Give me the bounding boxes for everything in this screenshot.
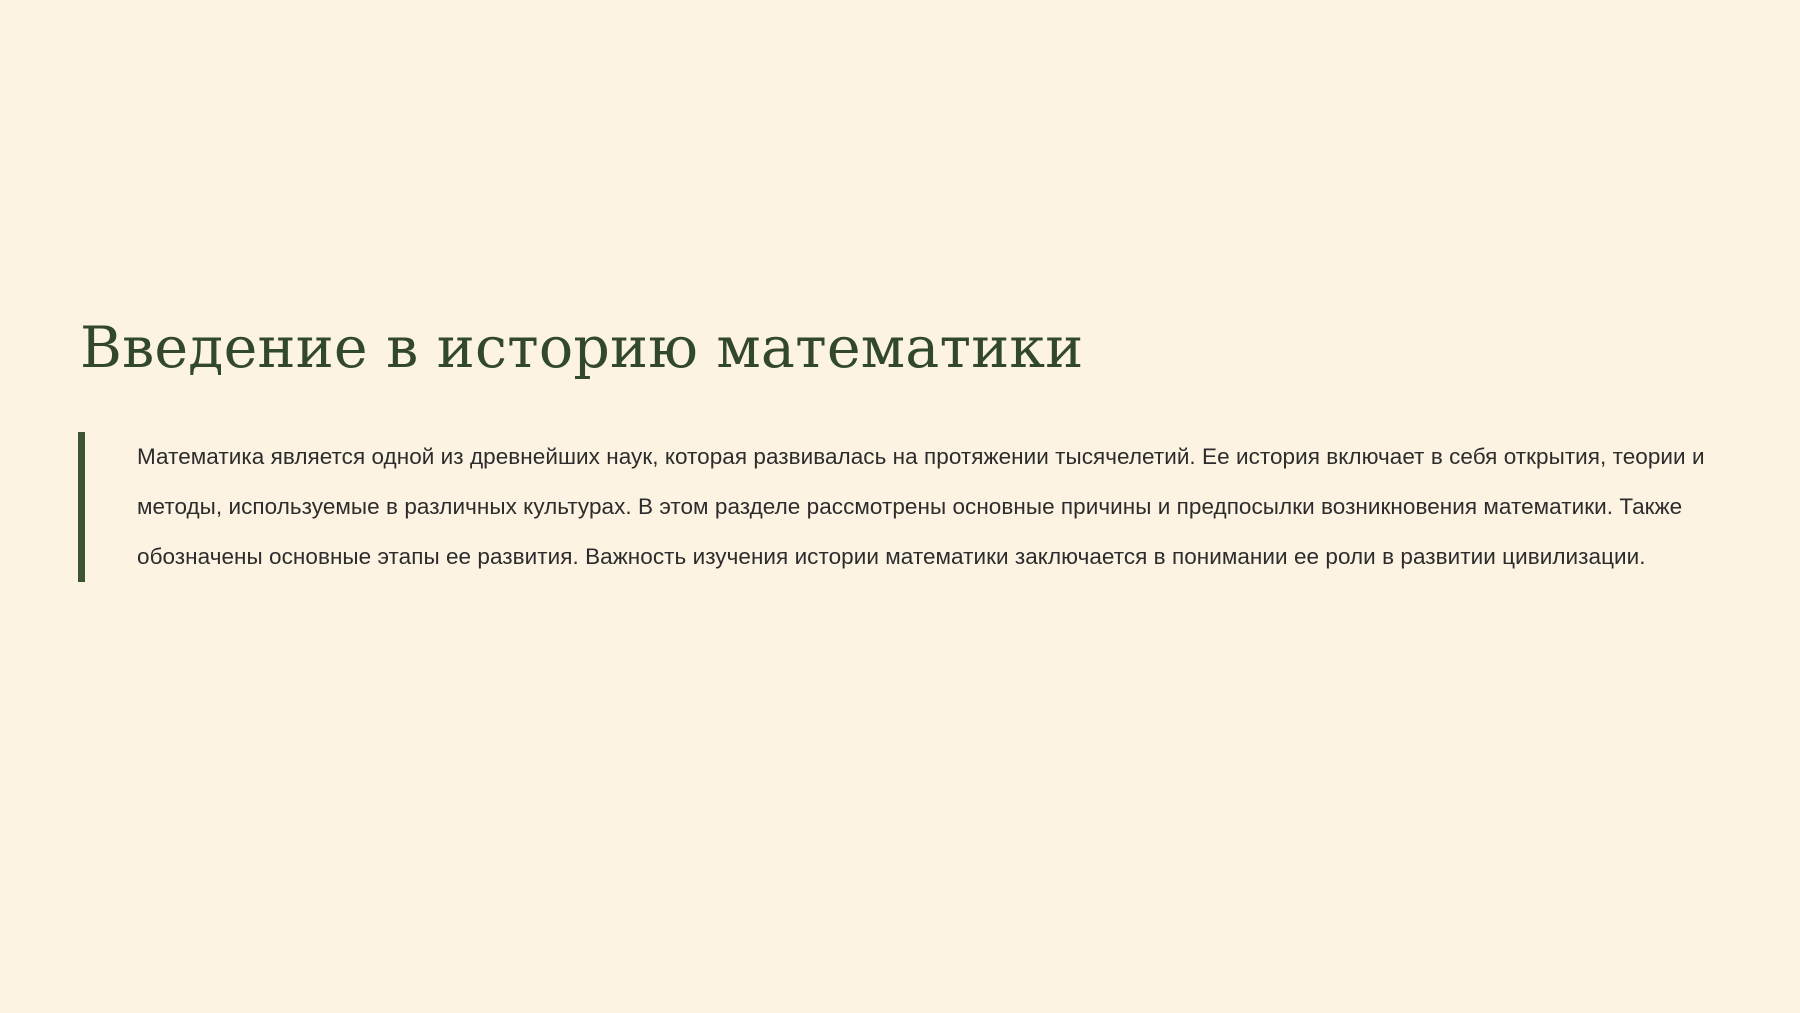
slide-canvas: Введение в историю математики Математика… [0, 0, 1800, 1013]
body-paragraph: Математика является одной из древнейших … [137, 432, 1718, 582]
page-title: Введение в историю математики [80, 318, 1720, 380]
body-quote-block: Математика является одной из древнейших … [78, 432, 1718, 582]
